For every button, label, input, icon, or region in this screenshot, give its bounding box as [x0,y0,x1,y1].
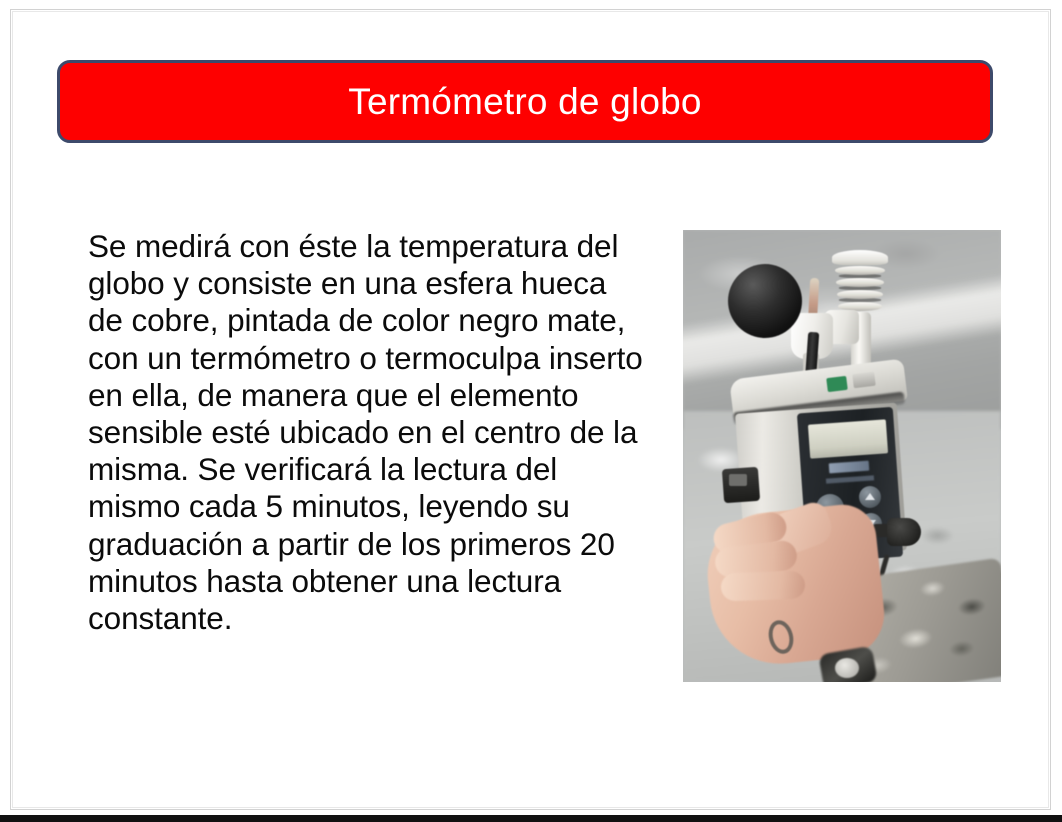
globe-thermometer-sphere [728,264,802,338]
body-paragraph: Se medirá con éste la temperatura del gl… [88,228,648,637]
wbgt-meter-photo [683,230,1001,682]
shield-fin [837,290,883,299]
title-banner: Termómetro de globo [57,60,993,143]
chevron-up-icon [865,493,875,500]
meter-side-port [729,474,747,486]
slide: Termómetro de globo Se medirá con éste l… [0,0,1062,822]
meter-gray-label [852,372,876,389]
meter-knob [887,518,921,546]
radiation-shield-sensor [831,250,889,316]
photo-scene [683,230,1001,682]
shield-fin [835,266,885,275]
meter-lcd-display [808,419,888,458]
wristwatch-face [835,658,859,678]
page-title: Termómetro de globo [348,83,701,120]
meter-green-label [826,376,848,392]
meter-up-button [859,486,881,508]
bottom-band [0,815,1062,822]
shield-fin [836,278,884,287]
shield-cap [832,250,888,265]
finger [721,571,806,602]
